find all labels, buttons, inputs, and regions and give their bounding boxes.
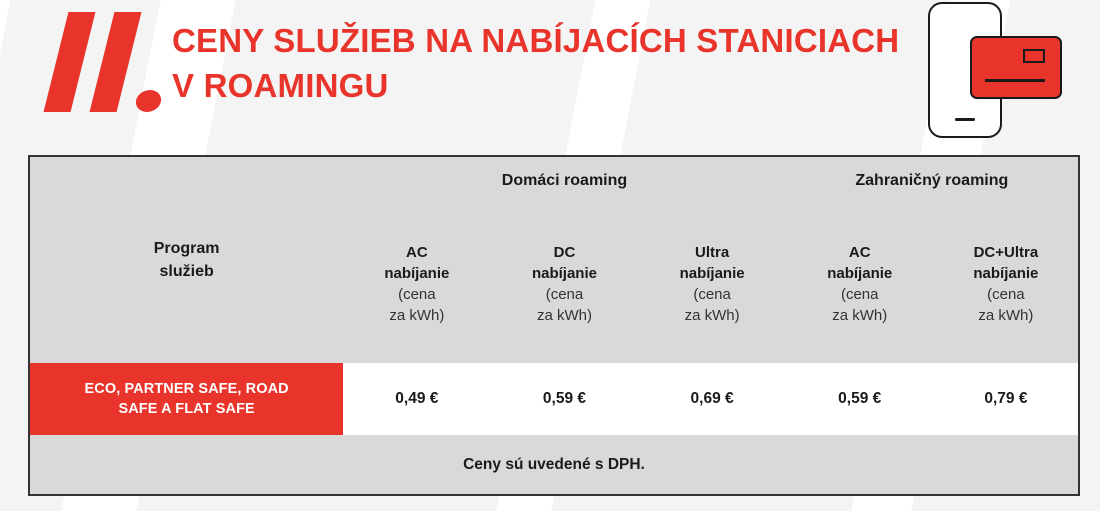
section-numeral-ii <box>30 12 170 124</box>
page-title-line-2: V ROAMINGU <box>172 63 932 108</box>
column-header-sub1: nabíjanie <box>343 263 490 284</box>
price-cell-dc-ultra-zahranicny: 0,79 € <box>934 363 1078 435</box>
program-header-line-1: Program <box>30 237 343 260</box>
column-header-title: DC <box>490 242 638 263</box>
plan-name-line-2: SAFE A FLAT SAFE <box>30 399 343 419</box>
pricing-table: Program služieb Domáci roaming Zahraničn… <box>30 157 1078 494</box>
column-header-sub3: za kWh) <box>490 305 638 326</box>
phone-with-card-icon <box>928 0 1088 145</box>
price-cell-ac-domaci: 0,49 € <box>343 363 490 435</box>
price-cell-dc-domaci: 0,59 € <box>490 363 638 435</box>
price-cell-ac-zahranicny: 0,59 € <box>786 363 934 435</box>
page-title: CENY SLUŽIEB NA NABÍJACÍCH STANICIACH V … <box>172 18 932 108</box>
price-cell-ultra-domaci: 0,69 € <box>639 363 786 435</box>
card-chip-icon <box>1023 49 1045 63</box>
vat-note: Ceny sú uvedené s DPH. <box>30 435 1078 494</box>
card-stripe-icon <box>985 79 1045 82</box>
table-row: ECO, PARTNER SAFE, ROAD SAFE A FLAT SAFE… <box>30 363 1078 435</box>
column-header-sub3: za kWh) <box>639 305 786 326</box>
page-root: CENY SLUŽIEB NA NABÍJACÍCH STANICIACH V … <box>0 0 1100 511</box>
table-note-row: Ceny sú uvedené s DPH. <box>30 435 1078 494</box>
page-title-line-1: CENY SLUŽIEB NA NABÍJACÍCH STANICIACH <box>172 18 932 63</box>
column-header-ac-zahranicny: AC nabíjanie (cena za kWh) <box>786 206 934 364</box>
page-header: CENY SLUŽIEB NA NABÍJACÍCH STANICIACH V … <box>0 0 1100 150</box>
column-header-sub2: (cena <box>490 284 638 305</box>
plan-name-cell: ECO, PARTNER SAFE, ROAD SAFE A FLAT SAFE <box>30 363 343 435</box>
program-header-cell: Program služieb <box>30 157 343 363</box>
group-header-domaci-roaming: Domáci roaming <box>343 157 785 206</box>
group-header-zahranicny-roaming: Zahraničný roaming <box>786 157 1078 206</box>
payment-card-icon <box>970 36 1062 99</box>
column-header-sub1: nabíjanie <box>934 263 1078 284</box>
column-header-dc-ultra-zahranicny: DC+Ultra nabíjanie (cena za kWh) <box>934 206 1078 364</box>
column-header-ultra-domaci: Ultra nabíjanie (cena za kWh) <box>639 206 786 364</box>
column-header-sub2: (cena <box>934 284 1078 305</box>
pricing-table-container: Program služieb Domáci roaming Zahraničn… <box>28 155 1080 496</box>
column-header-sub3: za kWh) <box>934 305 1078 326</box>
numeral-bar-1 <box>44 12 96 112</box>
program-header-line-2: služieb <box>30 260 343 283</box>
column-header-sub3: za kWh) <box>343 305 490 326</box>
column-header-title: AC <box>786 242 934 263</box>
phone-home-bar-icon <box>955 118 975 121</box>
column-header-sub1: nabíjanie <box>786 263 934 284</box>
column-header-dc-domaci: DC nabíjanie (cena za kWh) <box>490 206 638 364</box>
column-header-sub1: nabíjanie <box>639 263 786 284</box>
plan-name-line-1: ECO, PARTNER SAFE, ROAD <box>30 379 343 399</box>
column-header-sub2: (cena <box>639 284 786 305</box>
column-header-title: DC+Ultra <box>934 242 1078 263</box>
column-header-title: Ultra <box>639 242 786 263</box>
column-header-sub2: (cena <box>786 284 934 305</box>
column-header-sub2: (cena <box>343 284 490 305</box>
numeral-dot <box>134 90 162 112</box>
column-header-sub3: za kWh) <box>786 305 934 326</box>
table-group-header-row: Program služieb Domáci roaming Zahraničn… <box>30 157 1078 206</box>
numeral-bar-2 <box>90 12 142 112</box>
column-header-title: AC <box>343 242 490 263</box>
column-header-ac-domaci: AC nabíjanie (cena za kWh) <box>343 206 490 364</box>
column-header-sub1: nabíjanie <box>490 263 638 284</box>
